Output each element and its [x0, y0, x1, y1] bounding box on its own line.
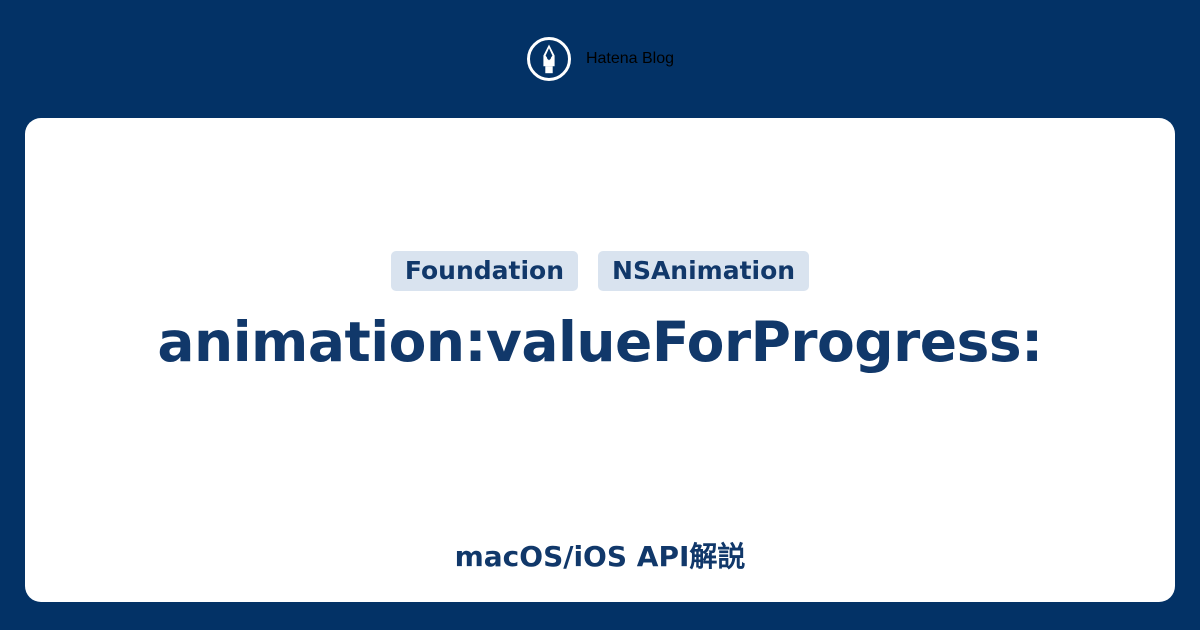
content-card: Foundation NSAnimation animation:valueFo… — [25, 118, 1175, 602]
blog-title-row: macOS/iOS API解説 — [25, 508, 1175, 602]
entry-tag-foundation[interactable]: Foundation — [391, 251, 578, 291]
entry-title: animation:valueForProgress: — [157, 310, 1042, 375]
hatena-blog-og-card: Hatena Blog Foundation NSAnimation anima… — [0, 0, 1200, 630]
hatena-pen-nib-icon — [526, 36, 572, 82]
brand-header: Hatena Blog — [0, 0, 1200, 118]
brand-name: Hatena Blog — [586, 50, 674, 68]
entry-tag-nsanimation[interactable]: NSAnimation — [598, 251, 809, 291]
entry-tag-list: Foundation NSAnimation — [391, 251, 809, 291]
entry-block: Foundation NSAnimation animation:valueFo… — [25, 118, 1175, 508]
blog-title: macOS/iOS API解説 — [455, 535, 746, 575]
